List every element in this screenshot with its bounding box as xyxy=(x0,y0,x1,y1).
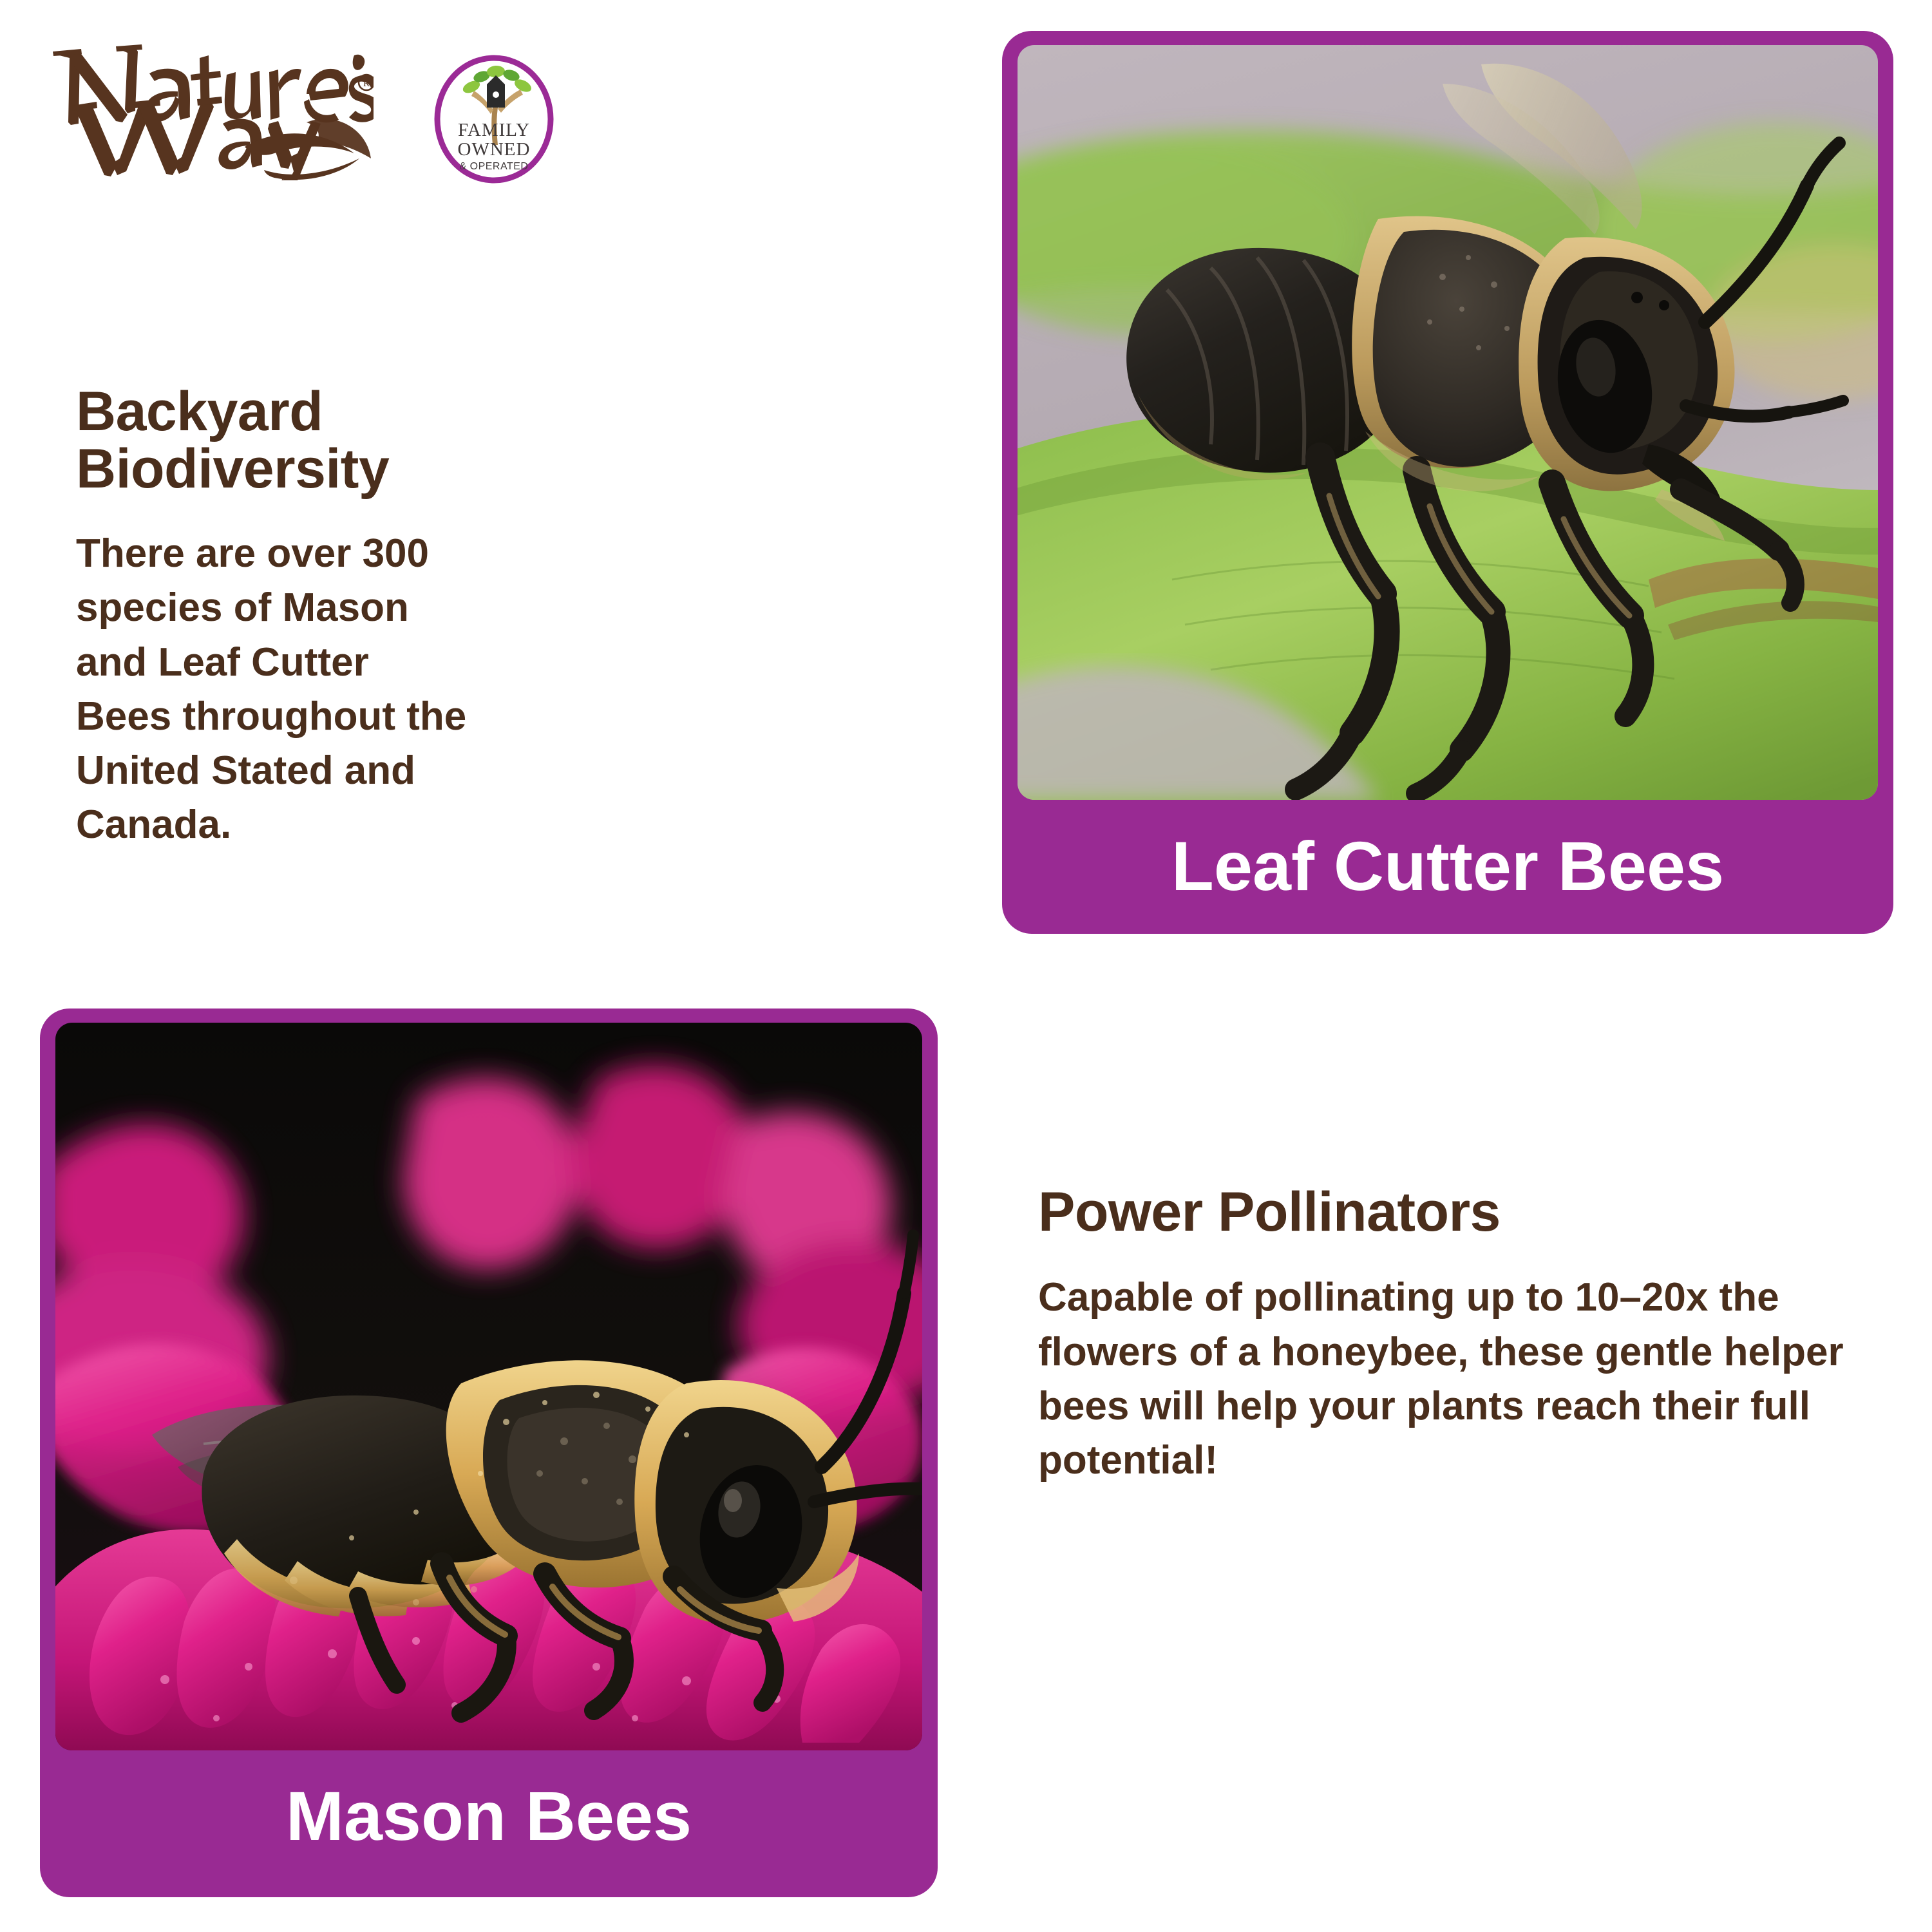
natures-way-logo: R xyxy=(52,32,374,180)
section-body: There are over 300 species of Mason and … xyxy=(76,527,475,853)
card-caption: Leaf Cutter Bees xyxy=(1002,831,1893,901)
mason-bee-photo xyxy=(55,1023,922,1750)
leaf-cutter-bee-photo xyxy=(1018,45,1878,800)
infographic-page: R xyxy=(0,0,1932,1932)
card-leaf-cutter-bees[interactable]: Leaf Cutter Bees xyxy=(1002,31,1893,934)
family-owned-badge: FAMILY OWNED & OPERATED xyxy=(431,55,557,184)
badge-line-3: & OPERATED xyxy=(460,161,529,172)
section-heading: Power Pollinators xyxy=(1038,1184,1869,1241)
section-power-pollinators: Power Pollinators Capable of pollinating… xyxy=(1038,1184,1869,1488)
badge-line-2: OWNED xyxy=(458,139,531,160)
card-mason-bees[interactable]: Mason Bees xyxy=(40,1009,938,1897)
brand-header: R xyxy=(39,19,567,180)
section-backyard-biodiversity: Backyard Biodiversity There are over 300… xyxy=(76,383,540,853)
section-body: Capable of pollinating up to 10–20x the … xyxy=(1038,1271,1869,1488)
svg-text:R: R xyxy=(363,79,370,89)
card-caption: Mason Bees xyxy=(40,1781,938,1851)
section-heading: Backyard Biodiversity xyxy=(76,383,540,498)
badge-line-1: FAMILY xyxy=(458,120,530,140)
